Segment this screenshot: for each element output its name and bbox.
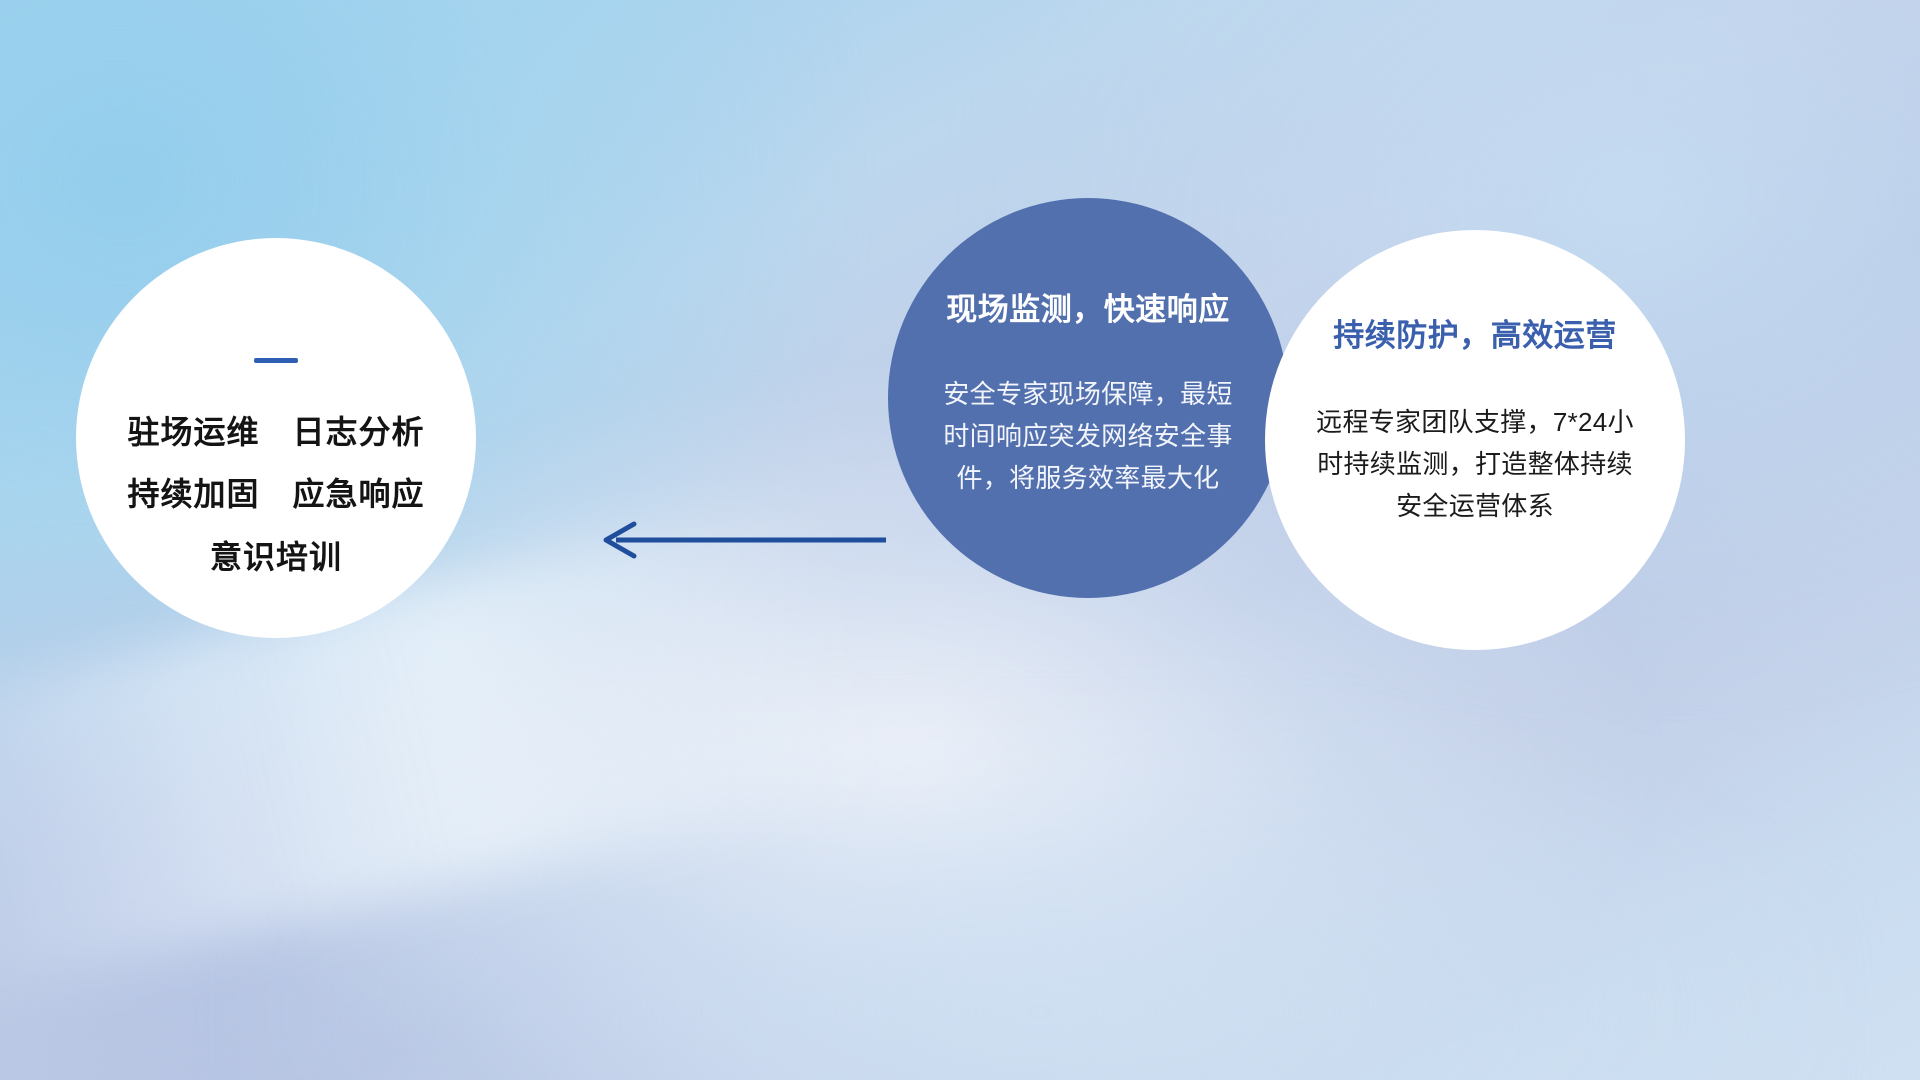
capability-circle-left[interactable]: 驻场运维 日志分析 持续加固 应急响应 意识培训 — [76, 238, 476, 638]
continuous-protection-title: 持续防护，高效运营 — [1333, 310, 1617, 355]
capability-line-2: 持续加固 应急响应 — [127, 463, 424, 525]
blue-dash-accent-icon — [254, 358, 298, 363]
capability-list: 驻场运维 日志分析 持续加固 应急响应 意识培训 — [127, 401, 424, 588]
continuous-protection-body: 远程专家团队支撑，7*24小时持续监测，打造整体持续安全运营体系 — [1310, 401, 1640, 527]
onsite-monitoring-title: 现场监测，快速响应 — [946, 284, 1230, 329]
arrow-icon — [590, 510, 890, 570]
continuous-protection-circle[interactable]: 持续防护，高效运营 远程专家团队支撑，7*24小时持续监测，打造整体持续安全运营… — [1265, 230, 1685, 650]
capability-line-3: 意识培训 — [127, 526, 424, 588]
capability-line-1: 驻场运维 日志分析 — [127, 401, 424, 463]
flow-arrow-right-to-left — [590, 510, 890, 570]
onsite-monitoring-circle[interactable]: 现场监测，快速响应 安全专家现场保障，最短时间响应突发网络安全事件，将服务效率最… — [888, 198, 1288, 598]
slide-canvas: 驻场运维 日志分析 持续加固 应急响应 意识培训 现场监测，快速响应 安全专家现… — [0, 0, 1920, 1080]
onsite-monitoring-body: 安全专家现场保障，最短时间响应突发网络安全事件，将服务效率最大化 — [943, 373, 1233, 499]
